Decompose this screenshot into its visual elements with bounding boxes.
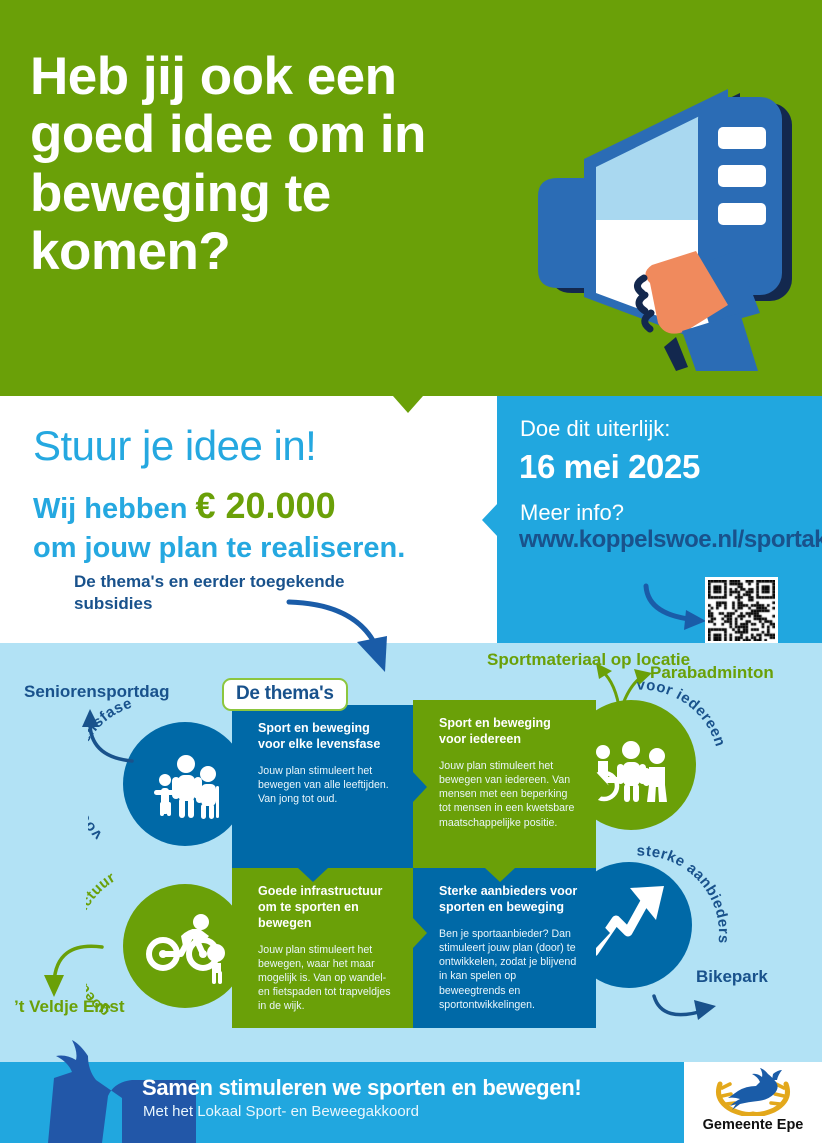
quadrant-body: Jouw plan stimuleert het bewegen van ied… [439,759,578,830]
hero-title: Heb jij ook een goed idee om in beweging… [30,48,500,281]
example-parabadminton: Parabadminton [650,663,774,683]
qr-code[interactable] [705,577,778,644]
notch-tl-right [413,772,427,802]
notch-tr-bottom [485,868,515,882]
quadrant-heading: Sterke aanbieders voor sporten en bewegi… [439,884,578,916]
deadline-label: Doe dit uiterlijk: [520,416,670,442]
arrow-branch-icon [592,655,662,717]
money-amount: € 20.000 [195,485,335,526]
poster-root: Heb jij ook een goed idee om in beweging… [0,0,822,1143]
quadrant-heading: Sport en beweging voor elke levensfase [258,721,395,753]
notch-bl-right [413,918,427,948]
footer-title: Samen stimuleren we sporten en bewegen! [142,1075,581,1101]
money-prefix: Wij hebben [33,493,187,525]
money-suffix: om jouw plan te realiseren. [33,532,405,564]
arrow-seniorensportdag-icon [74,705,144,767]
themes-badge: De thema's [222,678,348,711]
example-seniorensportdag: Seniorensportdag [24,682,169,702]
quadrant-levensfase: Sport en beweging voor elke levensfase J… [232,705,413,868]
money-line: Wij hebben € 20.000 om jouw plan te real… [33,483,493,567]
quadrant-body: Jouw plan stimuleert het bewegen van all… [258,764,395,807]
quadrant-body: Jouw plan stimuleert het bewegen, waar h… [258,943,395,1014]
quadrant-body: Ben je sportaanbieder? Dan stimuleert jo… [439,927,578,1012]
info-label: Meer info? [520,500,624,526]
curve-text: sterke aanbieders [637,843,732,945]
deadline-date: 16 mei 2025 [519,448,700,486]
submit-heading: Stuur je idee in! [33,422,316,470]
megaphone-icon [500,55,820,385]
arrow-to-themes-icon [285,590,405,685]
hero-section: Heb jij ook een goed idee om in beweging… [0,0,822,396]
hero-notch [393,396,423,413]
info-url[interactable]: www.koppelswoe.nl/sportakkoord [519,527,779,554]
arrow-veldje-icon [30,935,110,1001]
quadrant-heading: Goede infrastructuur om te sporten en be… [258,884,395,932]
deadline-panel-notch [482,503,498,537]
deer-laurel-logo [710,1068,796,1116]
svg-text:sterke aanbieders: sterke aanbieders [637,843,732,945]
quadrant-heading: Sport en beweging voor iedereen [439,716,578,748]
footer-subtitle: Met het Lokaal Sport- en Beweegakkoord [143,1103,419,1120]
footer-logo-text: Gemeente Epe [684,1117,822,1133]
arrow-bikepark-icon [648,976,724,1032]
notch-tl-bottom [298,868,328,882]
